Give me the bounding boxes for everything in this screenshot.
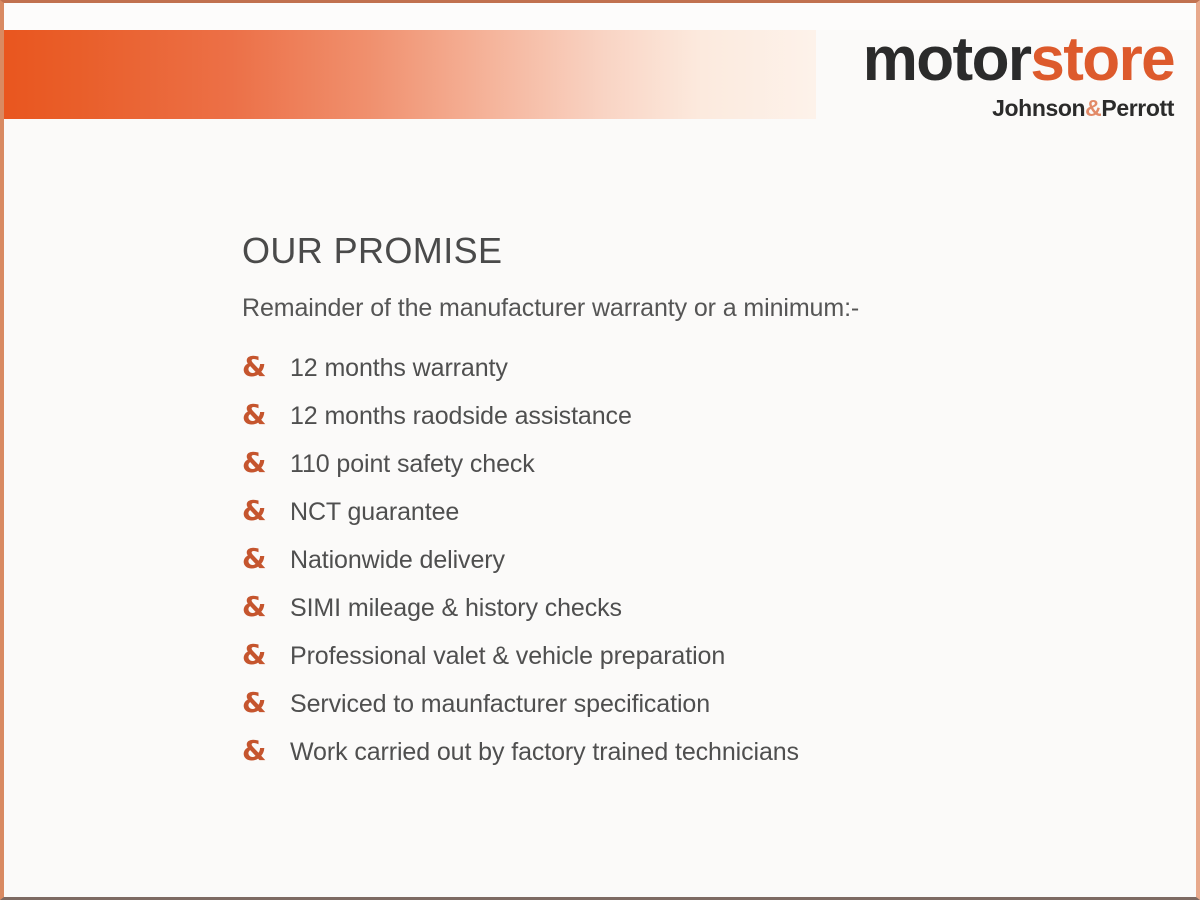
logo-subtitle: Johnson&Perrott <box>863 97 1174 120</box>
list-item-label: 110 point safety check <box>290 449 535 479</box>
content-area: OUR PROMISE Remainder of the manufacture… <box>242 231 1142 785</box>
list-item-label: Serviced to maunfacturer specification <box>290 689 710 719</box>
list-item: &12 months raodside assistance <box>242 401 1142 449</box>
ampersand-bullet-icon: & <box>242 449 290 477</box>
list-item-label: NCT guarantee <box>290 497 459 527</box>
list-item: &110 point safety check <box>242 449 1142 497</box>
list-item-label: Nationwide delivery <box>290 545 505 575</box>
list-item: &SIMI mileage & history checks <box>242 593 1142 641</box>
logo-word-store: store <box>1030 25 1174 94</box>
header-gradient-banner <box>4 30 816 119</box>
list-item: &Nationwide delivery <box>242 545 1142 593</box>
ampersand-bullet-icon: & <box>242 353 290 381</box>
promise-list: &12 months warranty&12 months raodside a… <box>242 353 1142 785</box>
list-item: &NCT guarantee <box>242 497 1142 545</box>
list-item-label: 12 months raodside assistance <box>290 401 632 431</box>
promise-poster: motorstore Johnson&Perrott OUR PROMISE R… <box>0 0 1200 900</box>
ampersand-bullet-icon: & <box>242 401 290 429</box>
ampersand-bullet-icon: & <box>242 737 290 765</box>
ampersand-bullet-icon: & <box>242 689 290 717</box>
ampersand-bullet-icon: & <box>242 497 290 525</box>
ampersand-icon: & <box>1085 95 1101 121</box>
logo-subtitle-perrott: Perrott <box>1101 95 1174 121</box>
list-item-label: 12 months warranty <box>290 353 508 383</box>
logo-subtitle-johnson: Johnson <box>992 95 1085 121</box>
page-title: OUR PROMISE <box>242 231 1142 271</box>
ampersand-bullet-icon: & <box>242 545 290 573</box>
ampersand-bullet-icon: & <box>242 593 290 621</box>
list-item: &Work carried out by factory trained tec… <box>242 737 1142 785</box>
logo-word-motor: motor <box>863 25 1031 94</box>
brand-logo: motorstore Johnson&Perrott <box>863 29 1174 120</box>
logo-wordmark: motorstore <box>863 29 1174 91</box>
list-item: &12 months warranty <box>242 353 1142 401</box>
list-item-label: Professional valet & vehicle preparation <box>290 641 725 671</box>
list-item-label: SIMI mileage & history checks <box>290 593 622 623</box>
ampersand-bullet-icon: & <box>242 641 290 669</box>
page-subtitle: Remainder of the manufacturer warranty o… <box>242 293 1142 323</box>
list-item: &Serviced to maunfacturer specification <box>242 689 1142 737</box>
list-item-label: Work carried out by factory trained tech… <box>290 737 799 767</box>
list-item: &Professional valet & vehicle preparatio… <box>242 641 1142 689</box>
